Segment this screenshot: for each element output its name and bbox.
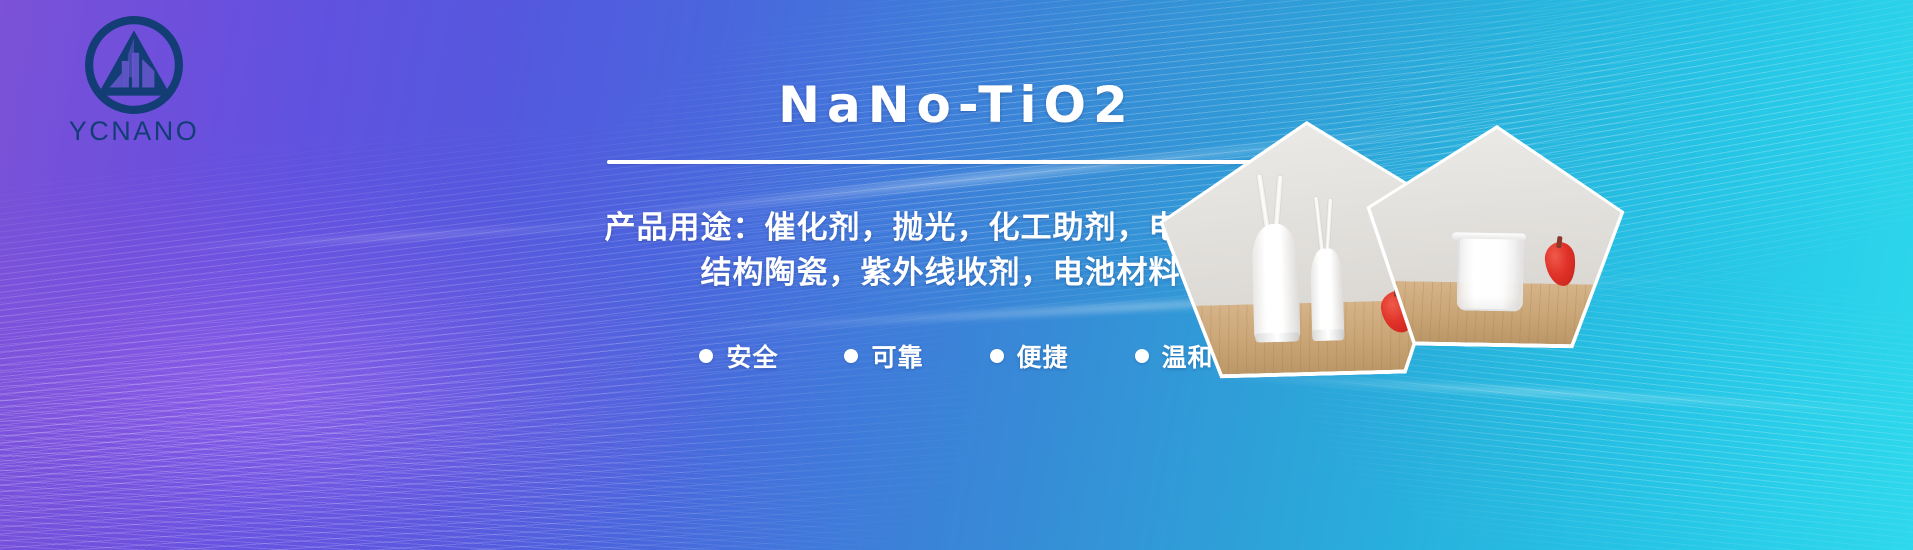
- brand-wordmark: YCNANO: [69, 118, 200, 145]
- dot-icon: [844, 349, 858, 363]
- feature-label: 温和: [1162, 338, 1214, 374]
- feature-item-safe: 安全: [699, 338, 778, 374]
- vase-slim: [1309, 206, 1344, 341]
- title-divider: [607, 160, 1307, 164]
- feature-item-reliable: 可靠: [844, 338, 923, 374]
- ycnano-emblem-icon: [83, 14, 185, 116]
- page-title: NaNo-TiO2: [484, 58, 1429, 130]
- product-banner: YCNANO NaNo-TiO2 产品用途：催化剂，抛光，化工助剂，电子陶瓷， …: [0, 0, 1913, 550]
- dot-icon: [990, 349, 1004, 363]
- feature-item-convenient: 便捷: [990, 338, 1069, 374]
- light-ribbon-3: [1180, 370, 1913, 417]
- dot-icon: [1135, 349, 1149, 363]
- feature-label: 便捷: [1017, 338, 1069, 374]
- dot-icon: [699, 349, 713, 363]
- feature-label: 安全: [726, 338, 778, 374]
- brand-logo: YCNANO: [46, 14, 222, 162]
- vase-tall: [1250, 181, 1300, 342]
- beaker-with-liquid: [1455, 232, 1522, 309]
- feature-item-mild: 温和: [1135, 338, 1214, 374]
- feature-label: 可靠: [871, 338, 923, 374]
